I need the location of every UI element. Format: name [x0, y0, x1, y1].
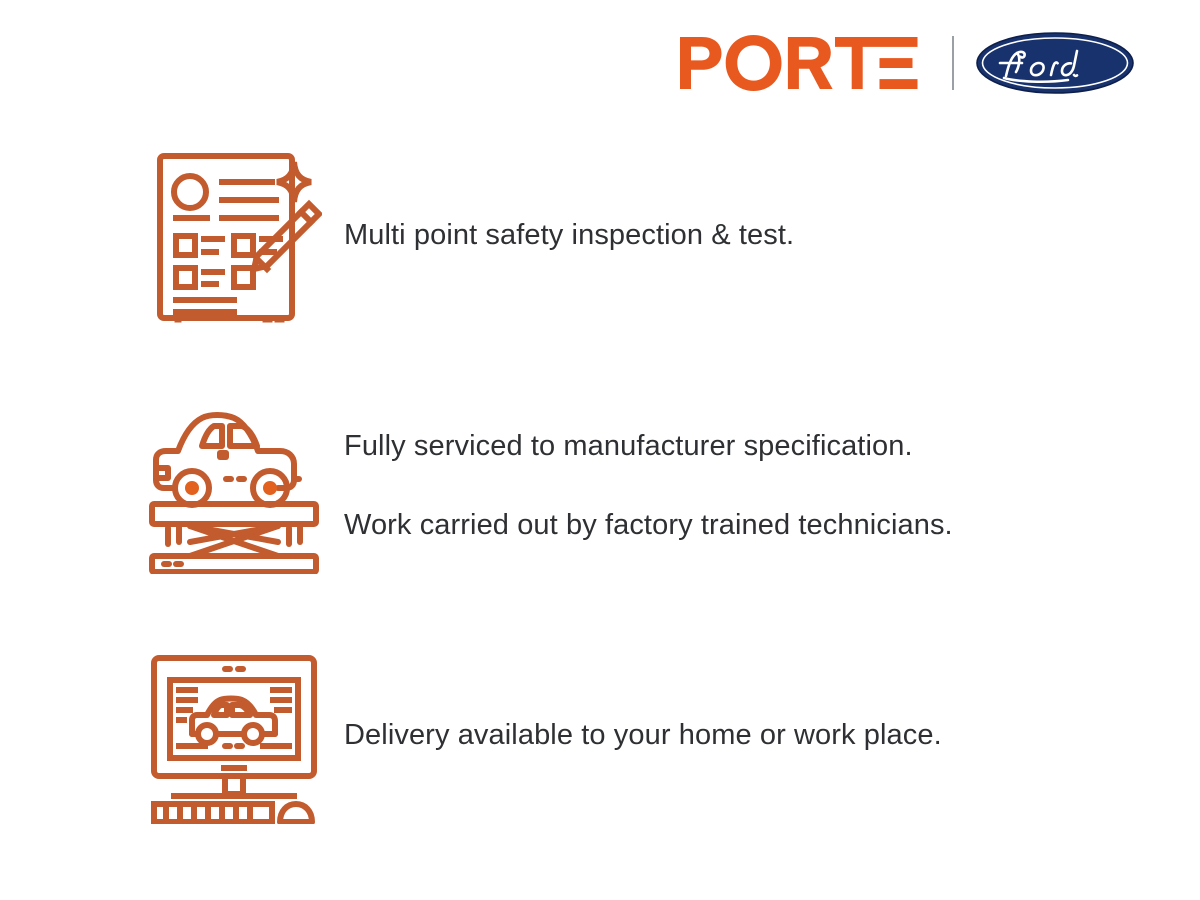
clipboard-checklist-pencil-icon [146, 148, 322, 324]
feature-list: Multi point safety inspection & test. [146, 146, 1146, 826]
feature-text-line: Fully serviced to manufacturer specifica… [344, 427, 953, 466]
brand-header [680, 28, 1134, 98]
brand-divider [952, 36, 954, 90]
porter-wordmark [680, 35, 932, 91]
feature-text-line: Work carried out by factory trained tech… [344, 506, 953, 545]
feature-row: Multi point safety inspection & test. [146, 146, 1146, 326]
feature-text: Multi point safety inspection & test. [322, 177, 794, 295]
feature-text-line: Delivery available to your home or work … [344, 716, 942, 755]
feature-row: Fully serviced to manufacturer specifica… [146, 396, 1146, 576]
feature-text: Delivery available to your home or work … [322, 677, 942, 795]
desktop-monitor-car-delivery-icon [146, 648, 322, 824]
car-on-scissor-lift-icon [146, 398, 322, 574]
feature-row: Delivery available to your home or work … [146, 646, 1146, 826]
feature-text: Fully serviced to manufacturer specifica… [322, 387, 953, 584]
ford-oval-logo [976, 32, 1134, 94]
feature-text-line: Multi point safety inspection & test. [344, 216, 794, 255]
